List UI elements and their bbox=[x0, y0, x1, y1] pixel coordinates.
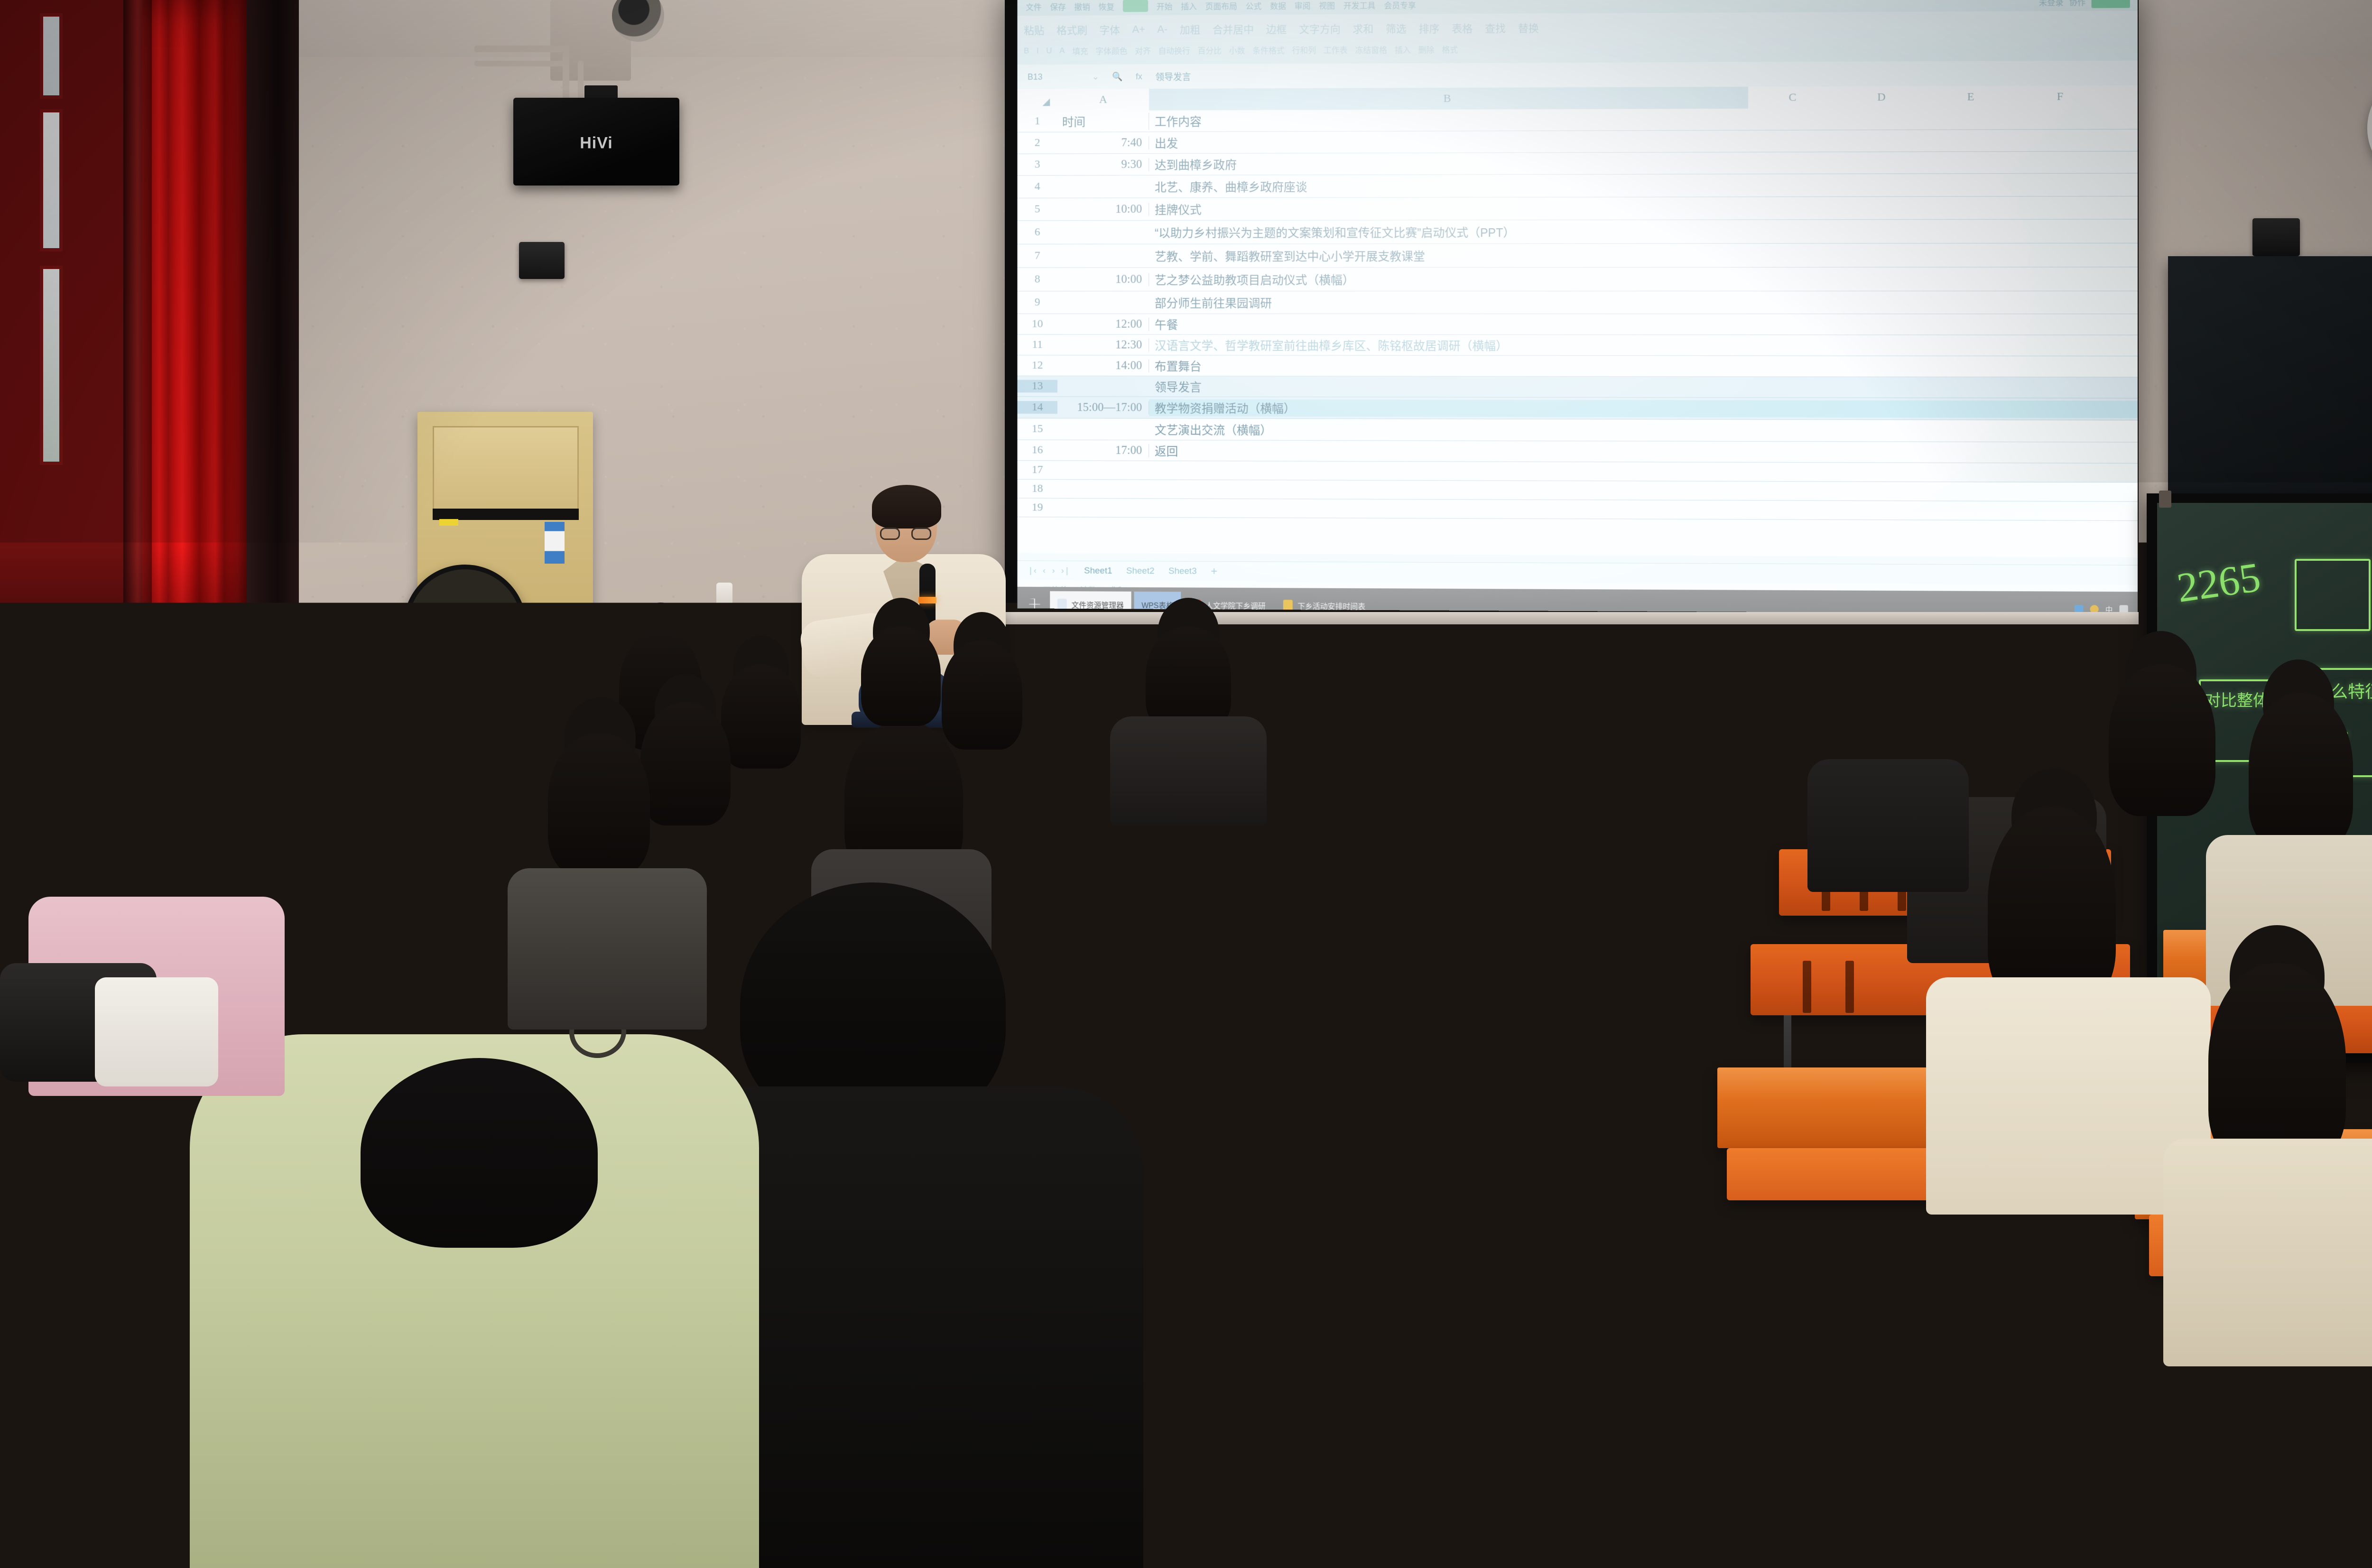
student-hair bbox=[2109, 664, 2215, 816]
row-header[interactable]: 8 bbox=[1017, 273, 1057, 286]
display-panel bbox=[2168, 256, 2372, 503]
cabinet-handle bbox=[433, 509, 579, 520]
row-header[interactable]: 9 bbox=[1017, 296, 1057, 309]
cell-a[interactable]: 17:00 bbox=[1057, 444, 1149, 457]
row-header[interactable]: 17 bbox=[1017, 464, 1057, 476]
app-logo-badge bbox=[1123, 0, 1148, 12]
fx-label: fx bbox=[1136, 72, 1142, 82]
cell-a[interactable]: 7:40 bbox=[1057, 136, 1149, 149]
paste-icon[interactable]: 粘贴 bbox=[1024, 22, 1044, 37]
cell-a[interactable] bbox=[1057, 489, 1149, 489]
worksheet-icon[interactable]: 工作表 bbox=[1324, 44, 1348, 56]
bench-slat bbox=[1803, 961, 1811, 1013]
cell-a[interactable] bbox=[1057, 508, 1149, 508]
student-head bbox=[1850, 688, 1917, 764]
taskbar-item-doc2[interactable]: 下乡活动安排时间表 bbox=[1276, 592, 1373, 614]
column-header-a[interactable]: A bbox=[1057, 89, 1149, 111]
cell-format-icon[interactable]: 格式 bbox=[1442, 43, 1458, 55]
quick-undo[interactable]: 撤销 bbox=[1074, 0, 1090, 12]
quick-redo[interactable]: 恢复 bbox=[1099, 0, 1115, 12]
sheet-nav-arrows[interactable]: |‹ ‹ › ›| bbox=[1029, 566, 1070, 576]
formula-bar[interactable]: B13 ⌄ 🔍 fx 领导发言 bbox=[1017, 61, 2138, 89]
cell-b[interactable]: 达到曲樟乡政府 bbox=[1149, 154, 2138, 173]
account-status[interactable]: 未登录 bbox=[2039, 0, 2064, 8]
table-row[interactable]: 14 15:00—17:00 教学物资捐赠活动（横幅） bbox=[1017, 397, 2138, 420]
chevron-down-icon[interactable]: ⌄ bbox=[1092, 72, 1099, 82]
wall-speaker-left: HiVi bbox=[513, 98, 679, 186]
student-hair bbox=[942, 640, 1022, 750]
rows-cols-icon[interactable]: 行和列 bbox=[1292, 44, 1316, 56]
row-header[interactable]: 12 bbox=[1017, 359, 1057, 372]
wall-pillar-shadow bbox=[247, 0, 299, 740]
taskbar-item-label: 文件资源管理器 bbox=[1072, 599, 1124, 610]
delete-icon[interactable]: 删除 bbox=[1418, 43, 1435, 55]
table-row[interactable]: 9 部分师生前往果园调研 bbox=[1017, 291, 2138, 314]
percent-format-icon[interactable]: 百分比 bbox=[1197, 44, 1221, 56]
quick-save[interactable]: 保存 bbox=[1050, 0, 1066, 12]
font-name-select[interactable]: 字体 bbox=[1100, 22, 1120, 37]
taskbar-item-explorer[interactable]: 文件资源管理器 bbox=[1050, 591, 1131, 614]
sheet-tab-3[interactable]: Sheet3 bbox=[1168, 566, 1196, 576]
cell-a[interactable]: 14:00 bbox=[1057, 359, 1149, 372]
table-row[interactable]: 15 文艺演出交流（横幅） bbox=[1017, 418, 2138, 443]
student-hair bbox=[1146, 626, 1231, 731]
text-direction-icon[interactable]: 文字方向 bbox=[1299, 21, 1340, 36]
student-hair-long-front bbox=[361, 1058, 598, 1248]
formula-input[interactable]: 领导发言 bbox=[1155, 70, 1191, 83]
cup bbox=[1926, 696, 1945, 714]
window-pane-top bbox=[40, 13, 63, 99]
column-header-d[interactable]: D bbox=[1837, 86, 1926, 109]
cell-b[interactable]: 返回 bbox=[1149, 442, 2138, 462]
underline-button[interactable]: U bbox=[1046, 46, 1052, 56]
presenter-hair bbox=[872, 485, 941, 529]
cell-a[interactable]: 时间 bbox=[1057, 112, 1149, 130]
white-jacket-item bbox=[95, 977, 218, 1086]
cell-b[interactable]: 挂牌仪式 bbox=[1149, 199, 2138, 218]
table-row[interactable]: 7 艺教、学前、舞蹈教研室到达中心小学开展支教课堂 bbox=[1017, 243, 2138, 268]
cabinet-sticker bbox=[545, 522, 565, 564]
table-icon[interactable]: 表格 bbox=[1452, 20, 1473, 36]
row-header[interactable]: 13 bbox=[1017, 380, 1057, 393]
menu-item-formula[interactable]: 公式 bbox=[1246, 0, 1262, 11]
cell-a[interactable]: 12:00 bbox=[1057, 317, 1149, 331]
conditional-format-icon[interactable]: 条件格式 bbox=[1252, 44, 1284, 56]
menu-item-devtools[interactable]: 开发工具 bbox=[1344, 0, 1376, 11]
table-row[interactable]: 8 10:00 艺之梦公益助教项目启动仪式（横幅） bbox=[1017, 267, 2138, 291]
table-row[interactable]: 1 时间 工作内容 bbox=[1017, 107, 2138, 132]
student-hair bbox=[640, 702, 731, 826]
cell-b[interactable]: 午餐 bbox=[1149, 315, 2138, 333]
menu-item-insert[interactable]: 插入 bbox=[1181, 0, 1197, 11]
column-header-e[interactable]: E bbox=[1926, 86, 2015, 108]
sort-icon[interactable]: 排序 bbox=[1419, 20, 1440, 36]
column-header-c[interactable]: C bbox=[1748, 86, 1837, 109]
cell-a[interactable]: 12:30 bbox=[1057, 338, 1149, 352]
cell-b[interactable]: 汉语言文学、哲学教研室前往曲樟乡库区、陈铭枢故居调研（横幅） bbox=[1149, 336, 2138, 354]
wall-outlet-left bbox=[519, 242, 565, 279]
window-pane-bottom bbox=[40, 266, 63, 465]
row-header[interactable]: 11 bbox=[1017, 338, 1057, 351]
add-sheet-button[interactable]: + bbox=[1211, 565, 1217, 578]
name-box[interactable]: B13 bbox=[1028, 72, 1079, 82]
row-header[interactable]: 15 bbox=[1017, 423, 1057, 436]
row-header[interactable]: 3 bbox=[1017, 158, 1057, 171]
cell-b[interactable] bbox=[1149, 470, 2138, 473]
spreadsheet-grid[interactable]: A B C D E F 1 时间 工作内容 2 7:40 bbox=[1017, 85, 2138, 557]
table-row[interactable]: 10 12:00 午餐 bbox=[1017, 314, 2138, 335]
desk-surface-front bbox=[2068, 1423, 2372, 1568]
cell-b-selected[interactable]: 领导发言 bbox=[1149, 378, 2138, 396]
freeze-panes-icon[interactable]: 冻结窗格 bbox=[1355, 44, 1387, 56]
sheet-tab-2[interactable]: Sheet2 bbox=[1126, 566, 1154, 576]
menu-item-file[interactable]: 文件 bbox=[1026, 0, 1041, 12]
student-hair bbox=[1988, 807, 2116, 1006]
wall-conduit bbox=[474, 46, 569, 52]
cell-a[interactable]: 10:00 bbox=[1057, 273, 1149, 286]
autosum-icon[interactable]: 求和 bbox=[1353, 21, 1373, 36]
spreadsheet-window[interactable]: 文件 保存 撤销 恢复 开始 插入 页面布局 公式 数据 审阅 视图 开发工具 … bbox=[1017, 0, 2138, 614]
student-hair bbox=[2249, 693, 2353, 849]
italic-button[interactable]: I bbox=[1037, 46, 1039, 56]
grid-rows: 1 时间 工作内容 2 7:40 出发 3 9:30 达到曲樟乡政府 bbox=[1017, 107, 2138, 557]
water-bottle bbox=[716, 583, 732, 614]
row-header[interactable]: 6 bbox=[1017, 226, 1057, 239]
classroom-scene: HiVi HiVi 12 1 2 3 4 5 6 7 8 9 10 11 文件 bbox=[0, 0, 2372, 1568]
cabinet-label bbox=[439, 519, 458, 526]
font-effects-button[interactable]: A bbox=[1059, 46, 1065, 56]
student-head bbox=[1324, 683, 1390, 759]
menu-item-view[interactable]: 视图 bbox=[1319, 0, 1335, 11]
student-torso-cream bbox=[375, 816, 574, 977]
ribbon-tool-row-2[interactable]: B I U A 填充 字体颜色 对齐 自动换行 百分比 小数 条件格式 行和列 … bbox=[1024, 40, 2138, 56]
wall-conduit bbox=[563, 46, 569, 102]
student-torso-beige bbox=[2163, 1139, 2372, 1366]
cell-b[interactable]: 出发 bbox=[1149, 131, 2138, 151]
cell-b[interactable]: 工作内容 bbox=[1149, 110, 2138, 130]
cell-b[interactable]: 北艺、康养、曲樟乡政府座谈 bbox=[1149, 176, 2138, 195]
speaker-brand-label: HiVi bbox=[513, 134, 679, 153]
floor-seam bbox=[1376, 1352, 1831, 1355]
bold-icon[interactable]: 加粗 bbox=[1180, 21, 1200, 37]
row-header[interactable]: 19 bbox=[1017, 501, 1057, 514]
table-leg bbox=[1751, 728, 1757, 956]
menu-item-member[interactable]: 会员专享 bbox=[1384, 0, 1416, 10]
table-row[interactable]: 4 北艺、康养、曲樟乡政府座谈 bbox=[1017, 174, 2138, 198]
wall-outlet-right bbox=[2252, 218, 2300, 256]
chalk-box-empty bbox=[2295, 559, 2371, 631]
merge-center-icon[interactable]: 合并居中 bbox=[1213, 21, 1254, 37]
font-grow-icon[interactable]: A+ bbox=[1132, 23, 1145, 36]
cell-b[interactable]: 艺教、学前、舞蹈教研室到达中心小学开展支教课堂 bbox=[1149, 246, 2138, 264]
bench-slat bbox=[778, 826, 787, 871]
row-header[interactable]: 5 bbox=[1017, 203, 1057, 216]
board-bracket-left bbox=[2159, 491, 2171, 508]
fill-color-icon[interactable]: 填充 bbox=[1072, 45, 1088, 56]
font-color-icon[interactable]: 字体颜色 bbox=[1095, 45, 1127, 56]
chalk-note-number: 2265 bbox=[2174, 553, 2263, 612]
filter-icon[interactable]: 筛选 bbox=[1386, 21, 1407, 36]
student-torso-dark bbox=[1807, 759, 1969, 892]
start-icon[interactable] bbox=[1022, 592, 1047, 614]
align-icon[interactable]: 对齐 bbox=[1135, 45, 1151, 56]
cell-b[interactable]: 艺之梦公益助教项目启动仪式（横幅） bbox=[1149, 270, 2138, 288]
cell-b[interactable]: “以助力乡村振兴为主题的文案策划和宣传征文比赛”启动仪式（PPT） bbox=[1149, 223, 2138, 241]
menu-item-layout[interactable]: 页面布局 bbox=[1205, 0, 1237, 11]
insert-function-icon[interactable]: 🔍 bbox=[1112, 72, 1122, 82]
folder-icon bbox=[1057, 599, 1067, 610]
student-head bbox=[427, 740, 505, 828]
table-row[interactable]: 5 10:00 挂牌仪式 bbox=[1017, 196, 2138, 221]
floor-seam bbox=[1447, 987, 1751, 989]
table-row[interactable]: 17 bbox=[1017, 461, 2138, 482]
row-header[interactable]: 4 bbox=[1017, 180, 1057, 193]
floor-reflection bbox=[1376, 930, 1803, 1566]
borders-icon[interactable]: 边框 bbox=[1266, 21, 1287, 37]
glasses-icon bbox=[880, 528, 931, 540]
ribbon-tool-row-1[interactable]: 粘贴 格式刷 字体 A+ A- 加粗 合并居中 边框 文字方向 求和 筛选 排序… bbox=[1024, 18, 2138, 37]
fan-hub bbox=[445, 606, 485, 646]
cell-b[interactable]: 部分师生前往果园调研 bbox=[1149, 294, 2138, 311]
search-icon[interactable]: 查找 bbox=[1485, 20, 1506, 36]
column-header-f[interactable]: F bbox=[2015, 85, 2105, 108]
table-row[interactable]: 3 9:30 达到曲樟乡政府 bbox=[1017, 151, 2138, 176]
row-header[interactable]: 10 bbox=[1017, 318, 1057, 331]
microphone-indicator bbox=[918, 597, 936, 603]
row-header[interactable]: 1 bbox=[1017, 115, 1057, 128]
table-row[interactable]: 16 17:00 返回 bbox=[1017, 440, 2138, 463]
cell-b[interactable]: 布置舞台 bbox=[1149, 357, 2138, 375]
cabinet-upper-panel bbox=[433, 426, 579, 516]
menu-item-home[interactable]: 开始 bbox=[1157, 0, 1173, 11]
table-row[interactable]: 11 12:30 汉语言文学、哲学教研室前往曲樟乡库区、陈铭枢故居调研（横幅） bbox=[1017, 334, 2138, 356]
student-hair bbox=[861, 626, 941, 726]
wall-conduit bbox=[474, 61, 569, 66]
taskbar-item-label: 下乡活动安排时间表 bbox=[1297, 600, 1365, 612]
cell-b-highlighted[interactable]: 教学物资捐赠活动（横幅） bbox=[1149, 399, 2138, 418]
student-hair bbox=[71, 640, 159, 759]
student-hair bbox=[721, 664, 801, 769]
insert-icon[interactable]: 插入 bbox=[1395, 43, 1411, 55]
cell-b[interactable]: 文艺演出交流（横幅） bbox=[1149, 421, 2138, 440]
decimal-format-icon[interactable]: 小数 bbox=[1229, 44, 1245, 56]
format-painter-icon[interactable]: 格式刷 bbox=[1056, 22, 1087, 37]
column-header-b[interactable]: B bbox=[1149, 87, 1748, 111]
column-header-row: A B C D E F bbox=[1017, 85, 2138, 111]
bench-slat bbox=[1845, 961, 1854, 1013]
cell-a[interactable]: 10:00 bbox=[1057, 203, 1149, 216]
menu-item-review[interactable]: 审阅 bbox=[1295, 0, 1311, 11]
sheet-tab-1[interactable]: Sheet1 bbox=[1084, 566, 1112, 576]
collaborate-button[interactable]: 协作 bbox=[2069, 0, 2086, 8]
font-shrink-icon[interactable]: A- bbox=[1157, 23, 1167, 36]
row-header[interactable]: 2 bbox=[1017, 137, 1057, 149]
projection-screen: 文件 保存 撤销 恢复 开始 插入 页面布局 公式 数据 审阅 视图 开发工具 … bbox=[1005, 0, 2139, 618]
student-torso-dark bbox=[1110, 716, 1267, 826]
table-row[interactable]: 13 领导发言 bbox=[1017, 376, 2138, 399]
cell-a[interactable]: 9:30 bbox=[1057, 158, 1149, 171]
doc-icon bbox=[1283, 600, 1293, 611]
select-all-corner[interactable] bbox=[1017, 89, 1057, 111]
replace-icon[interactable]: 替换 bbox=[1518, 20, 1539, 35]
share-button[interactable] bbox=[2092, 0, 2130, 8]
menu-item-data[interactable]: 数据 bbox=[1270, 0, 1286, 11]
row-header[interactable]: 7 bbox=[1017, 250, 1057, 262]
cell-b[interactable] bbox=[1149, 508, 2138, 511]
table-row[interactable]: 2 7:40 出发 bbox=[1017, 130, 2138, 154]
row-header[interactable]: 18 bbox=[1017, 482, 1057, 495]
bold-button[interactable]: B bbox=[1024, 46, 1029, 56]
cell-a[interactable] bbox=[1057, 470, 1149, 471]
row-header[interactable]: 16 bbox=[1017, 444, 1057, 456]
bench-slat bbox=[797, 750, 806, 790]
table-row[interactable]: 12 14:00 布置舞台 bbox=[1017, 355, 2138, 377]
table-row[interactable]: 19 bbox=[1017, 498, 2138, 521]
app-ribbon[interactable]: 粘贴 格式刷 字体 A+ A- 加粗 合并居中 边框 文字方向 求和 筛选 排序… bbox=[1017, 11, 2138, 65]
window-pane-mid bbox=[40, 109, 63, 251]
taskbar-item-label: 人文学院下乡调研 bbox=[1205, 599, 1266, 611]
cell-a[interactable]: 15:00—17:00 bbox=[1057, 401, 1149, 414]
wrap-text-icon[interactable]: 自动换行 bbox=[1158, 44, 1190, 56]
table-row[interactable]: 6 “以助力乡村振兴为主题的文案策划和宣传征文比赛”启动仪式（PPT） bbox=[1017, 219, 2138, 244]
student-hair bbox=[2208, 963, 2346, 1167]
row-header[interactable]: 14 bbox=[1017, 401, 1057, 414]
student-torso-dark bbox=[1281, 754, 1437, 887]
cell-b[interactable] bbox=[1149, 489, 2138, 492]
